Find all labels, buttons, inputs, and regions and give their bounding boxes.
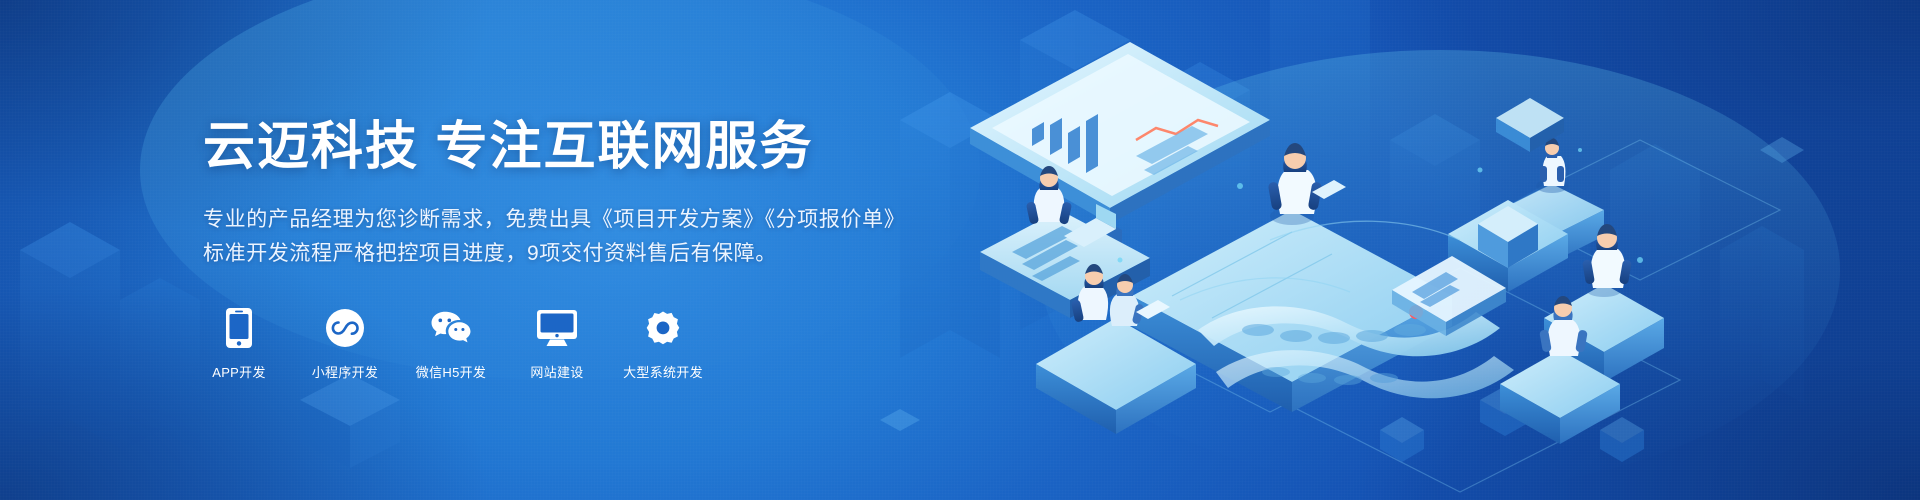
feature-large-system-development[interactable]: 大型系统开发 <box>627 307 699 381</box>
gear-icon <box>642 307 684 349</box>
feature-wechat-h5-development[interactable]: 微信H5开发 <box>415 307 487 381</box>
feature-miniprogram-development[interactable]: 小程序开发 <box>309 307 381 381</box>
illustration-person-right <box>1582 224 1632 297</box>
illustration-platform-right <box>1544 284 1664 382</box>
illustration-person-pair <box>1071 264 1170 326</box>
illustration-main-platform <box>1132 210 1452 412</box>
illustration-person-center <box>1268 143 1346 225</box>
wechat-icon <box>430 307 472 349</box>
banner-content: 云迈科技 专注互联网服务 专业的产品经理为您诊断需求，免费出具《项目开发方案》《… <box>203 0 905 500</box>
service-feature-list: APP开发 小程序开发 <box>203 307 905 381</box>
subtitle-line-2: 标准开发流程严格把控项目进度，9项交付资料售后有保障。 <box>203 237 905 271</box>
feature-website-construction[interactable]: 网站建设 <box>521 307 593 381</box>
illustration-platform-lower-left <box>1036 318 1196 434</box>
illustration-person-back <box>1536 138 1568 193</box>
feature-label: 大型系统开发 <box>623 362 703 381</box>
promotional-banner: 云迈科技 专注互联网服务 专业的产品经理为您诊断需求，免费出具《项目开发方案》《… <box>0 0 1920 500</box>
mobile-phone-icon <box>218 307 260 349</box>
banner-subtitle: 专业的产品经理为您诊断需求，免费出具《项目开发方案》《分项报价单》 标准开发流程… <box>203 203 905 271</box>
illustration-person-right-lower <box>1539 296 1588 356</box>
illustration-floating-chip <box>1496 98 1564 152</box>
illustration-platform-right-lower <box>1500 350 1620 444</box>
feature-app-development[interactable]: APP开发 <box>203 307 275 381</box>
feature-label: 微信H5开发 <box>416 362 486 381</box>
illustration-person-left <box>1026 166 1116 247</box>
monitor-icon <box>536 307 578 349</box>
subtitle-line-1: 专业的产品经理为您诊断需求，免费出具《项目开发方案》《分项报价单》 <box>203 203 905 237</box>
feature-label: 网站建设 <box>530 362 583 381</box>
illustration-platform-right-mid <box>1448 200 1568 292</box>
page-title: 云迈科技 专注互联网服务 <box>203 119 905 176</box>
mini-program-icon <box>324 307 366 349</box>
illustration-data-ribbon-lower <box>1216 350 1514 398</box>
illustration-floating-card <box>1392 256 1506 336</box>
illustration-dashboard <box>970 42 1270 258</box>
illustration-desk-left <box>980 210 1150 318</box>
isometric-illustration <box>940 0 1920 500</box>
feature-label: APP开发 <box>212 362 266 381</box>
illustration-data-ribbon <box>1198 305 1500 356</box>
feature-label: 小程序开发 <box>312 362 379 381</box>
